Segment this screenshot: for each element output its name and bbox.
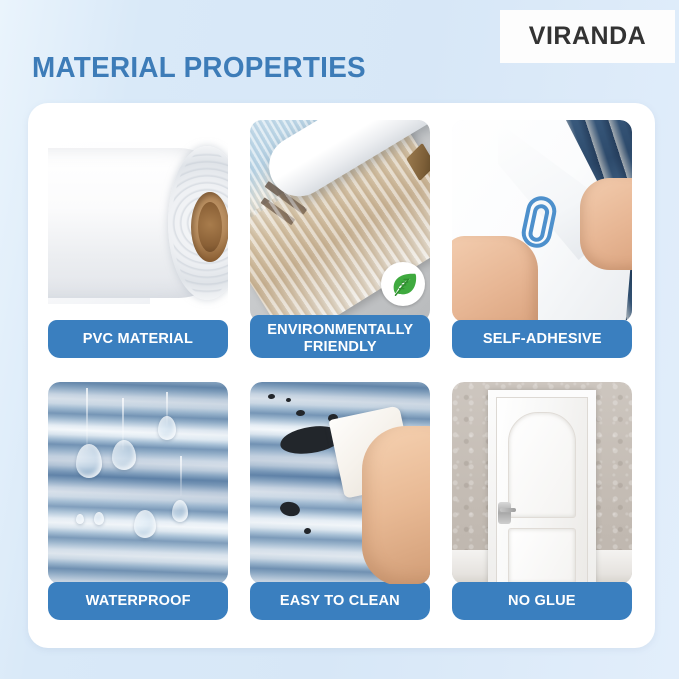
wipe-cloth-icon xyxy=(250,382,430,584)
feature-label-text: WATERPROOF xyxy=(85,593,190,609)
leaf-icon xyxy=(381,262,425,306)
feature-card-environmentally-friendly[interactable]: ENVIRONMENTALLYFRIENDLY xyxy=(250,120,430,358)
feature-card-self-adhesive[interactable]: SELF-ADHESIVE xyxy=(452,120,632,358)
feature-label-easy-to-clean: EASY TO CLEAN xyxy=(250,582,430,620)
feature-label-environmentally-friendly: ENVIRONMENTALLYFRIENDLY xyxy=(250,315,430,358)
wallpaper-roll-icon xyxy=(250,120,430,322)
feature-card-waterproof[interactable]: WATERPROOF xyxy=(48,382,228,620)
feature-label-text: SELF-ADHESIVE xyxy=(483,331,602,347)
feature-card-no-glue[interactable]: NO GLUE xyxy=(452,382,632,620)
feature-label-text: PVC MATERIAL xyxy=(83,331,193,347)
feature-label-text: ENVIRONMENTALLYFRIENDLY xyxy=(267,322,413,354)
door-icon xyxy=(452,382,632,584)
page-title: MATERIAL PROPERTIES xyxy=(32,52,366,85)
feature-label-pvc-material: PVC MATERIAL xyxy=(48,320,228,358)
water-drop-icon xyxy=(48,382,228,584)
brand-name: VIRANDA xyxy=(529,22,646,51)
feature-card-easy-to-clean[interactable]: EASY TO CLEAN xyxy=(250,382,430,620)
feature-label-self-adhesive: SELF-ADHESIVE xyxy=(452,320,632,358)
pvc-roll-icon xyxy=(48,120,228,322)
feature-label-text: EASY TO CLEAN xyxy=(280,593,400,609)
brand-logo-box: VIRANDA xyxy=(500,10,675,63)
feature-card-pvc-material[interactable]: PVC MATERIAL xyxy=(48,120,228,358)
feature-label-waterproof: WATERPROOF xyxy=(48,582,228,620)
infographic-page: VIRANDA MATERIAL PROPERTIES PVC MATERIAL xyxy=(0,0,679,679)
feature-label-text: NO GLUE xyxy=(508,593,576,609)
feature-label-no-glue: NO GLUE xyxy=(452,582,632,620)
peel-sheet-icon xyxy=(452,120,632,322)
features-grid: PVC MATERIAL xyxy=(48,120,636,620)
